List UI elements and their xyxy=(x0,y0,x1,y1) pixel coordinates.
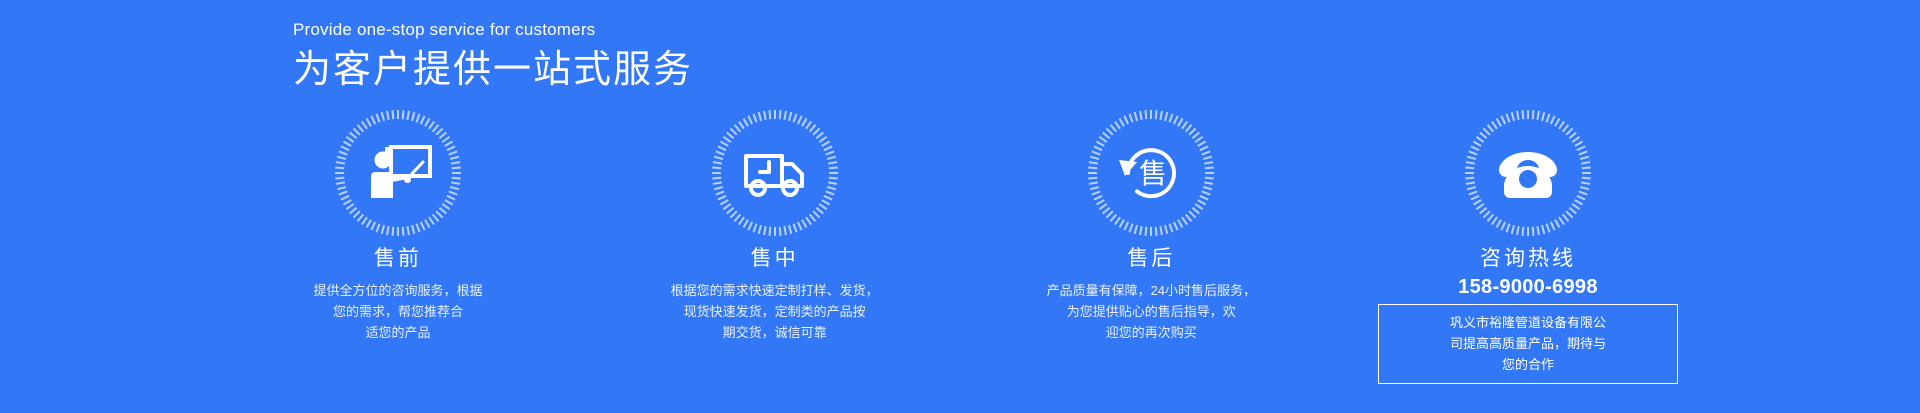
icon-wrap-pre-sales xyxy=(333,108,463,238)
desc-line: 现货快速发货，定制类的产品按 xyxy=(671,301,879,322)
desc-line: 期交货，诚信可靠 xyxy=(671,322,879,343)
company-note-box: 巩义市裕隆管道设备有限公 司提高高质量产品，期待与 您的合作 xyxy=(1378,304,1678,384)
icon-wrap-hotline xyxy=(1463,108,1593,238)
hotline-phone-number[interactable]: 158-9000-6998 xyxy=(1458,275,1598,300)
icon-wrap-during-sales xyxy=(710,108,840,238)
desc-line: 为您提供贴心的售后指导，欢 xyxy=(1047,301,1256,322)
service-title-during-sales: 售中 xyxy=(751,244,799,274)
after-sales-glyph-text: 售 xyxy=(1139,158,1167,189)
after-sales-refresh-icon: 售 xyxy=(1114,136,1188,210)
service-column-after-sales: 售 售后 产品质量有保障，24小时售后服务， 为您提供贴心的售后指导，欢 迎您的… xyxy=(986,108,1316,343)
presenter-whiteboard-icon xyxy=(361,136,435,210)
banner-headings: Provide one-stop service for customers 为… xyxy=(293,16,1193,96)
service-column-pre-sales: 售前 提供全方位的咨询服务，根据 您的需求，帮您推荐合 适您的产品 xyxy=(233,108,563,343)
service-title-pre-sales: 售前 xyxy=(374,244,422,274)
banner-eyebrow: Provide one-stop service for customers xyxy=(293,16,1193,44)
banner-title: 为客户提供一站式服务 xyxy=(293,44,1193,96)
note-line: 司提高高质量产品，期待与 xyxy=(1391,333,1665,354)
service-title-after-sales: 售后 xyxy=(1127,244,1175,274)
desc-line: 根据您的需求快速定制打样、发货， xyxy=(671,280,879,301)
desc-line: 提供全方位的咨询服务，根据 xyxy=(313,280,482,301)
service-banner: Provide one-stop service for customers 为… xyxy=(0,0,1920,413)
desc-line: 迎您的再次购买 xyxy=(1047,322,1256,343)
service-title-hotline: 咨询热线 xyxy=(1480,244,1576,274)
note-line: 您的合作 xyxy=(1391,354,1665,375)
service-column-hotline: 咨询热线 158-9000-6998 巩义市裕隆管道设备有限公 司提高高质量产品… xyxy=(1363,108,1693,384)
telephone-icon xyxy=(1491,136,1565,210)
desc-line: 适您的产品 xyxy=(313,322,482,343)
note-line: 巩义市裕隆管道设备有限公 xyxy=(1391,312,1665,333)
service-columns: 售前 提供全方位的咨询服务，根据 您的需求，帮您推荐合 适您的产品 xyxy=(233,108,1693,384)
service-column-during-sales: 售中 根据您的需求快速定制打样、发货， 现货快速发货，定制类的产品按 期交货，诚… xyxy=(610,108,940,343)
desc-line: 产品质量有保障，24小时售后服务， xyxy=(1047,280,1256,301)
delivery-truck-clock-icon xyxy=(738,136,812,210)
service-desc-pre-sales: 提供全方位的咨询服务，根据 您的需求，帮您推荐合 适您的产品 xyxy=(313,280,482,343)
service-desc-after-sales: 产品质量有保障，24小时售后服务， 为您提供贴心的售后指导，欢 迎您的再次购买 xyxy=(1047,280,1256,343)
icon-wrap-after-sales: 售 xyxy=(1086,108,1216,238)
desc-line: 您的需求，帮您推荐合 xyxy=(313,301,482,322)
service-desc-during-sales: 根据您的需求快速定制打样、发货， 现货快速发货，定制类的产品按 期交货，诚信可靠 xyxy=(671,280,879,343)
